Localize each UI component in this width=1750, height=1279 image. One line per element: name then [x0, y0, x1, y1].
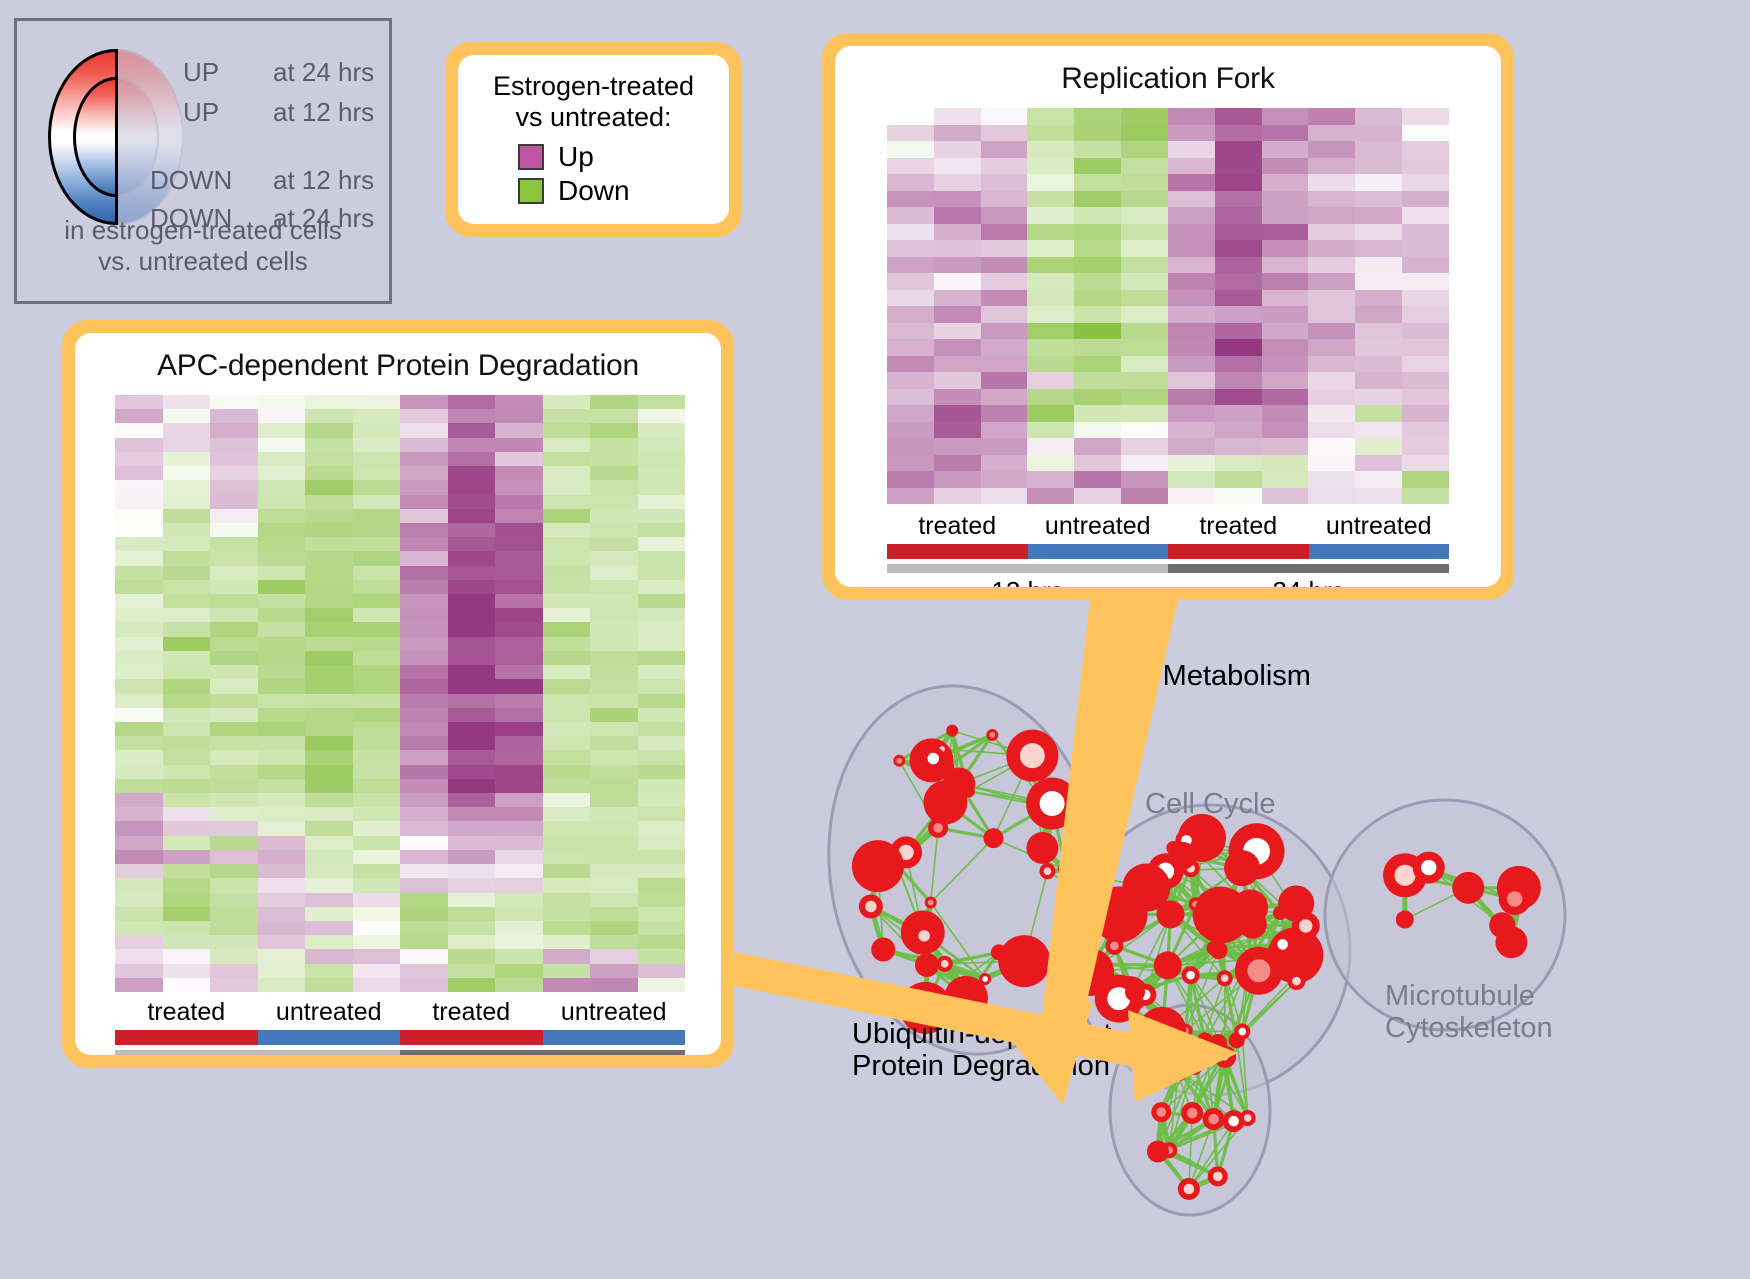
heatmap-cell [305, 964, 353, 978]
heatmap-cell [163, 978, 211, 992]
heatmap-cell [305, 551, 353, 565]
network-node[interactable] [915, 953, 939, 977]
heatmap-cell [495, 509, 543, 523]
heatmap-cell [590, 438, 638, 452]
heatmap-cell [353, 480, 401, 494]
heatmap-cell [1168, 339, 1215, 356]
network-node[interactable] [871, 937, 895, 961]
heatmap-cell [1262, 356, 1309, 373]
heatmap-cell [1215, 141, 1262, 158]
pathway-network-diagram: DNA Metabolism Cell Cycle Microtubule Cy… [790, 620, 1750, 1279]
heatmap-cell [163, 452, 211, 466]
heatmap-cell [981, 240, 1028, 257]
heatmap-cell [353, 637, 401, 651]
heatmap-cell [163, 523, 211, 537]
heatmap-cell [258, 537, 306, 551]
up-down-legend-title: Estrogen-treated vs untreated: [470, 71, 717, 133]
heatmap-cell [1121, 438, 1168, 455]
heatmap-cell [1074, 488, 1121, 505]
heatmap-cell [258, 878, 306, 892]
heatmap-cell [543, 651, 591, 665]
heatmap-cell [1027, 438, 1074, 455]
heatmap-cell [495, 594, 543, 608]
replication-fork-panel: Replication Fork treated untreated treat… [822, 33, 1514, 600]
heatmap-cell [1027, 339, 1074, 356]
heatmap-cell [305, 395, 353, 409]
heatmap-cell [981, 108, 1028, 125]
heatmap-cell [305, 694, 353, 708]
heatmap-cell [638, 423, 686, 437]
heatmap-cell [981, 405, 1028, 422]
heatmap-cell [163, 935, 211, 949]
heatmap-cell [1215, 191, 1262, 208]
heatmap-cell [353, 878, 401, 892]
heatmap-cell [1308, 108, 1355, 125]
heatmap-cell [448, 807, 496, 821]
heatmap-cell [353, 907, 401, 921]
heatmap-cell [115, 949, 163, 963]
heatmap-cell [1355, 257, 1402, 274]
network-node[interactable] [1235, 947, 1283, 995]
heatmap-cell [981, 174, 1028, 191]
network-node[interactable] [1499, 883, 1531, 915]
heatmap-cell [305, 978, 353, 992]
heatmap-cell [1308, 191, 1355, 208]
network-node[interactable] [1413, 852, 1445, 884]
heatmap-cell [590, 836, 638, 850]
heatmap-cell [638, 409, 686, 423]
heatmap-cell [590, 694, 638, 708]
heatmap-cell [1355, 422, 1402, 439]
network-node[interactable] [1208, 1166, 1228, 1186]
heatmap-cell [1074, 356, 1121, 373]
heatmap-cell [1215, 240, 1262, 257]
cluster-label-cell-cycle: Cell Cycle [1145, 788, 1276, 820]
heatmap-cell [1168, 405, 1215, 422]
heatmap-cell [1215, 438, 1262, 455]
heatmap-cell [1074, 422, 1121, 439]
heatmap-cell [210, 935, 258, 949]
network-node[interactable] [1122, 864, 1170, 912]
heatmap-cell [1027, 290, 1074, 307]
heatmap-cell [210, 722, 258, 736]
heatmap-cell [353, 608, 401, 622]
heatmap-cell [1355, 290, 1402, 307]
heatmap-cell [1355, 174, 1402, 191]
heatmap-cell [1168, 191, 1215, 208]
heatmap-cell [115, 750, 163, 764]
heatmap-cell [1355, 240, 1402, 257]
heatmap-cell [115, 438, 163, 452]
heatmap-cell [353, 921, 401, 935]
network-node[interactable] [1272, 933, 1294, 955]
network-node[interactable] [1138, 1007, 1186, 1055]
heatmap-cell [590, 608, 638, 622]
heatmap-cell [1308, 389, 1355, 406]
heatmap-cell [1168, 290, 1215, 307]
heatmap-cell [210, 736, 258, 750]
heatmap-cell [163, 637, 211, 651]
network-node[interactable] [1217, 970, 1233, 986]
network-node[interactable] [1181, 1102, 1203, 1124]
heatmap-cell [448, 466, 496, 480]
heatmap-cell [543, 779, 591, 793]
network-node[interactable] [943, 768, 975, 800]
heatmap-cell [258, 821, 306, 835]
heatmap-cell [934, 240, 981, 257]
heatmap-cell [353, 679, 401, 693]
heatmap-cell [1402, 158, 1449, 175]
heatmap-cell [543, 821, 591, 835]
heatmap-cell [1308, 158, 1355, 175]
heatmap-cell [1308, 438, 1355, 455]
heatmap-cell [163, 509, 211, 523]
heatmap-cell [210, 765, 258, 779]
replication-time-labels: 12 hrs 24 hrs [887, 576, 1449, 587]
heatmap-cell [1121, 389, 1168, 406]
heatmap-cell [1121, 422, 1168, 439]
heatmap-cell [115, 694, 163, 708]
heatmap-cell [1355, 389, 1402, 406]
replication-fork-heatmap [887, 108, 1449, 504]
heatmap-cell [400, 779, 448, 793]
heatmap-cell [400, 722, 448, 736]
heatmap-cell [163, 907, 211, 921]
heatmap-cell [1074, 224, 1121, 241]
heatmap-cell [887, 141, 934, 158]
heatmap-cell [400, 608, 448, 622]
heatmap-cell [1168, 108, 1215, 125]
heatmap-cell [638, 438, 686, 452]
heatmap-cell [1262, 108, 1309, 125]
heatmap-cell [400, 651, 448, 665]
heatmap-cell [1121, 488, 1168, 505]
network-graph [790, 620, 1750, 1279]
heatmap-cell [638, 821, 686, 835]
heatmap-cell [543, 722, 591, 736]
network-node[interactable] [1169, 1061, 1189, 1081]
heatmap-cell [305, 779, 353, 793]
heatmap-cell [590, 736, 638, 750]
heatmap-cell [258, 594, 306, 608]
heatmap-cell [163, 750, 211, 764]
heatmap-cell [258, 480, 306, 494]
heatmap-cell [1027, 158, 1074, 175]
replication-time-bar [887, 564, 1449, 573]
heatmap-cell [590, 807, 638, 821]
heatmap-cell [258, 921, 306, 935]
heatmap-cell [353, 551, 401, 565]
network-node[interactable] [1105, 937, 1123, 955]
heatmap-cell [638, 622, 686, 636]
network-node[interactable] [1207, 941, 1221, 955]
heatmap-cell [1308, 356, 1355, 373]
network-node[interactable] [852, 840, 904, 892]
network-node[interactable] [859, 894, 883, 918]
heatmap-cell [1308, 273, 1355, 290]
heatmap-cell [210, 438, 258, 452]
heatmap-cell [210, 807, 258, 821]
key-footer-line2: vs. untreated cells [17, 246, 389, 277]
heatmap-cell [495, 836, 543, 850]
network-node[interactable] [1125, 982, 1145, 1002]
heatmap-cell [1215, 356, 1262, 373]
heatmap-cell [543, 551, 591, 565]
heatmap-cell [590, 878, 638, 892]
heatmap-cell [1168, 125, 1215, 142]
heatmap-cell [1308, 422, 1355, 439]
heatmap-cell [305, 622, 353, 636]
key-time-up-24: at 24 hrs [273, 57, 374, 88]
heatmap-cell [1027, 389, 1074, 406]
heatmap-cell [1215, 339, 1262, 356]
heatmap-cell [495, 395, 543, 409]
heatmap-cell [400, 807, 448, 821]
heatmap-cell [353, 438, 401, 452]
heatmap-cell [1262, 240, 1309, 257]
heatmap-cell [543, 793, 591, 807]
heatmap-cell [353, 864, 401, 878]
network-node[interactable] [921, 747, 945, 771]
heatmap-cell [1308, 290, 1355, 307]
time-label: 12 hrs [887, 576, 1168, 587]
heatmap-cell [1121, 323, 1168, 340]
heatmap-cell [1121, 224, 1168, 241]
heatmap-cell [115, 665, 163, 679]
heatmap-cell [353, 821, 401, 835]
heatmap-cell [400, 921, 448, 935]
network-node[interactable] [1287, 972, 1305, 990]
heatmap-cell [1215, 108, 1262, 125]
heatmap-cell [981, 141, 1028, 158]
network-node[interactable] [912, 924, 936, 948]
network-node[interactable] [937, 956, 953, 972]
heatmap-cell [258, 736, 306, 750]
heatmap-cell [1215, 273, 1262, 290]
network-node[interactable] [1066, 948, 1114, 996]
heatmap-cell [210, 850, 258, 864]
heatmap-cell [1262, 455, 1309, 472]
heatmap-cell [163, 779, 211, 793]
network-node[interactable] [1182, 966, 1200, 984]
heatmap-cell [590, 964, 638, 978]
heatmap-cell [1121, 141, 1168, 158]
heatmap-cell [305, 722, 353, 736]
heatmap-cell [887, 257, 934, 274]
heatmap-cell [210, 978, 258, 992]
heatmap-cell [495, 793, 543, 807]
heatmap-cell [1262, 191, 1309, 208]
heatmap-cell [543, 679, 591, 693]
network-node[interactable] [946, 725, 958, 737]
heatmap-cell [543, 523, 591, 537]
heatmap-cell [638, 907, 686, 921]
heatmap-cell [543, 509, 591, 523]
heatmap-cell [1074, 323, 1121, 340]
heatmap-cell [887, 108, 934, 125]
network-node[interactable] [1039, 863, 1055, 879]
heatmap-cell [1027, 306, 1074, 323]
heatmap-cell [163, 850, 211, 864]
network-node[interactable] [1154, 951, 1182, 979]
network-node[interactable] [893, 755, 905, 767]
heatmap-cell [543, 594, 591, 608]
heatmap-cell [495, 551, 543, 565]
network-node[interactable] [925, 896, 937, 908]
heatmap-cell [400, 551, 448, 565]
heatmap-cell [1308, 141, 1355, 158]
heatmap-cell [210, 551, 258, 565]
heatmap-cell [305, 509, 353, 523]
network-node[interactable] [1151, 1102, 1171, 1122]
heatmap-cell [115, 608, 163, 622]
heatmap-cell [543, 807, 591, 821]
heatmap-cell [305, 594, 353, 608]
network-node[interactable] [1197, 1032, 1213, 1048]
heatmap-cell [448, 736, 496, 750]
network-node[interactable] [1396, 911, 1414, 929]
heatmap-cell [543, 921, 591, 935]
heatmap-cell [934, 323, 981, 340]
legend-title-line2: vs untreated: [470, 102, 717, 133]
network-node[interactable] [1495, 926, 1527, 958]
heatmap-cell [495, 409, 543, 423]
heatmap-cell [1402, 290, 1449, 307]
heatmap-cell [115, 622, 163, 636]
heatmap-cell [638, 466, 686, 480]
network-node[interactable] [986, 729, 998, 741]
heatmap-cell [448, 537, 496, 551]
network-node[interactable] [1224, 850, 1260, 886]
network-node[interactable] [1234, 1024, 1250, 1040]
condition-segment [115, 1030, 258, 1045]
heatmap-cell [1308, 455, 1355, 472]
network-node[interactable] [983, 828, 1003, 848]
network-node[interactable] [1292, 912, 1320, 940]
heatmap-cell [353, 523, 401, 537]
heatmap-cell [981, 389, 1028, 406]
heatmap-cell [1168, 471, 1215, 488]
heatmap-cell [400, 452, 448, 466]
heatmap-cell [1215, 306, 1262, 323]
heatmap-cell [305, 665, 353, 679]
heatmap-cell [590, 907, 638, 921]
heatmap-cell [934, 290, 981, 307]
heatmap-cell [543, 637, 591, 651]
key-direction-down-12: DOWN [150, 165, 232, 196]
heatmap-cell [495, 537, 543, 551]
legend-item-up: Up [518, 141, 717, 173]
heatmap-cell [400, 864, 448, 878]
key-footer: in estrogen-treated cells vs. untreated … [17, 215, 389, 276]
heatmap-cell [543, 452, 591, 466]
heatmap-cell [543, 622, 591, 636]
heatmap-cell [1074, 372, 1121, 389]
heatmap-cell [495, 850, 543, 864]
network-node[interactable] [1217, 1049, 1233, 1065]
heatmap-cell [163, 480, 211, 494]
heatmap-cell [258, 964, 306, 978]
heatmap-cell [638, 551, 686, 565]
heatmap-cell [495, 779, 543, 793]
heatmap-cell [210, 907, 258, 921]
heatmap-cell [258, 452, 306, 466]
heatmap-cell [163, 679, 211, 693]
network-node[interactable] [1203, 1108, 1225, 1130]
heatmap-cell [590, 466, 638, 480]
heatmap-cell [543, 750, 591, 764]
network-node[interactable] [1194, 887, 1250, 943]
heatmap-cell [400, 495, 448, 509]
heatmap-cell [1121, 191, 1168, 208]
network-node[interactable] [1178, 1178, 1200, 1200]
heatmap-cell [448, 750, 496, 764]
heatmap-cell [115, 793, 163, 807]
heatmap-cell [163, 949, 211, 963]
replication-fork-title: Replication Fork [835, 46, 1501, 96]
heatmap-cell [1027, 125, 1074, 142]
heatmap-cell [1074, 290, 1121, 307]
heatmap-cell [305, 566, 353, 580]
heatmap-cell [1074, 389, 1121, 406]
heatmap-cell [163, 495, 211, 509]
network-node[interactable] [1026, 832, 1058, 864]
heatmap-cell [1074, 108, 1121, 125]
heatmap-cell [305, 750, 353, 764]
heatmap-cell [1027, 488, 1074, 505]
heatmap-cell [353, 978, 401, 992]
network-node[interactable] [998, 935, 1050, 987]
heatmap-cell [981, 422, 1028, 439]
condition-segment [258, 1030, 401, 1045]
network-node[interactable] [1223, 1110, 1245, 1132]
heatmap-cell [1262, 438, 1309, 455]
heatmap-cell [887, 422, 934, 439]
heatmap-cell [1027, 108, 1074, 125]
heatmap-cell [1355, 438, 1402, 455]
heatmap-cell [1168, 488, 1215, 505]
heatmap-cell [163, 765, 211, 779]
heatmap-cell [590, 821, 638, 835]
network-node[interactable] [1147, 1140, 1169, 1162]
heatmap-cell [1402, 389, 1449, 406]
heatmap-cell [638, 765, 686, 779]
heatmap-cell [1262, 257, 1309, 274]
heatmap-cell [305, 608, 353, 622]
network-node[interactable] [1006, 730, 1058, 782]
heatmap-cell [258, 907, 306, 921]
heatmap-cell [981, 207, 1028, 224]
heatmap-cell [981, 471, 1028, 488]
up-down-legend-panel: Estrogen-treated vs untreated: Up Down [445, 42, 742, 237]
heatmap-cell [353, 452, 401, 466]
heatmap-cell [448, 566, 496, 580]
heatmap-cell [258, 779, 306, 793]
network-node[interactable] [1058, 862, 1074, 878]
heatmap-cell [887, 356, 934, 373]
heatmap-cell [1355, 405, 1402, 422]
heatmap-cell [400, 409, 448, 423]
heatmap-cell [448, 864, 496, 878]
heatmap-cell [495, 765, 543, 779]
heatmap-cell [590, 509, 638, 523]
heatmap-cell [543, 537, 591, 551]
network-node[interactable] [1026, 777, 1078, 829]
replication-condition-bar [887, 544, 1449, 559]
network-node[interactable] [1168, 842, 1196, 870]
network-node[interactable] [1452, 872, 1484, 904]
heatmap-cell [1074, 471, 1121, 488]
